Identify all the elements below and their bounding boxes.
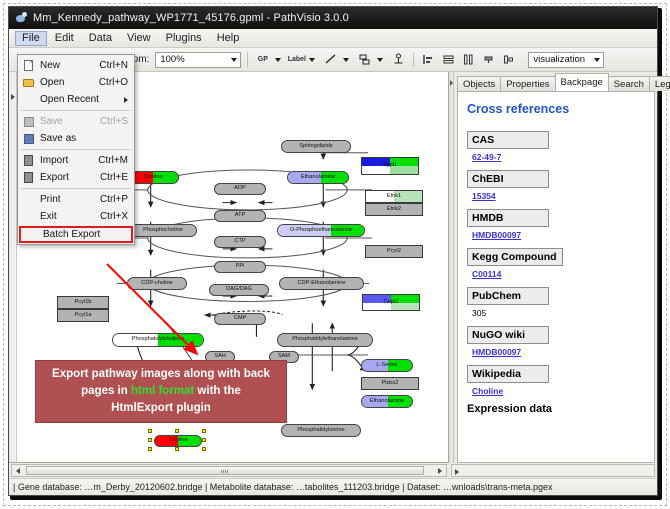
pathway-gene-pcyt2[interactable]: Pcyt2 bbox=[365, 245, 423, 258]
xref-link[interactable]: C00114 bbox=[472, 269, 501, 279]
pathway-node-label: ADP bbox=[234, 186, 246, 192]
menu-item-accel: Ctrl+P bbox=[100, 194, 134, 205]
menu-item-label: New bbox=[40, 60, 99, 71]
scroll-arrow-icon[interactable] bbox=[455, 469, 459, 475]
menu-item-open-recent[interactable]: Open Recent bbox=[18, 91, 134, 108]
align-left-button[interactable] bbox=[420, 51, 437, 68]
export-icon bbox=[20, 171, 37, 185]
tab-objects[interactable]: Objects bbox=[457, 76, 501, 91]
pathway-node-label: Choline bbox=[144, 175, 163, 181]
menu-item-label: Exit bbox=[40, 211, 100, 222]
menu-item-exit[interactable]: Exit Ctrl+X bbox=[18, 208, 134, 225]
status-bar: | Gene database: …m_Derby_20120602.bridg… bbox=[9, 478, 657, 495]
pathway-gene-etnk1[interactable]: Etnk1 bbox=[365, 190, 423, 203]
anchor-tool-button[interactable] bbox=[390, 51, 407, 68]
menu-plugins[interactable]: Plugins bbox=[159, 31, 209, 46]
menu-file[interactable]: File bbox=[15, 31, 47, 46]
xref-value[interactable]: HMDB00097 bbox=[467, 347, 654, 357]
side-panel-scroll-stub[interactable] bbox=[451, 464, 655, 477]
align-center-button[interactable] bbox=[440, 51, 457, 68]
scroll-right-arrow-icon[interactable] bbox=[438, 468, 442, 474]
tab-properties[interactable]: Properties bbox=[500, 76, 555, 91]
align-left-icon bbox=[422, 53, 435, 66]
pathway-gene-label: Sgpl1 bbox=[383, 163, 397, 169]
pathway-node-ophosphoeth[interactable]: O-Phosphoethanolamine bbox=[277, 224, 365, 237]
chevron-down-icon bbox=[594, 58, 600, 62]
xref-block-cas: CAS 62-49-7 bbox=[467, 130, 654, 162]
menu-data[interactable]: Data bbox=[82, 31, 119, 46]
menu-item-open[interactable]: Open Ctrl+O bbox=[18, 74, 134, 91]
pathway-node-ethanolamine1[interactable]: Ethanolamine bbox=[287, 171, 349, 184]
align-center-icon bbox=[442, 53, 455, 66]
menu-item-accel: Ctrl+X bbox=[100, 211, 134, 222]
pathway-node-phosphocholine[interactable]: Phosphocholine bbox=[129, 224, 197, 237]
pathway-node-label: Ethanolamine bbox=[370, 399, 404, 405]
pathway-node-l-serine[interactable]: L-Serine bbox=[361, 359, 413, 372]
xref-block-nugo: NuGO wiki HMDB00097 bbox=[467, 325, 654, 357]
open-folder-icon bbox=[20, 76, 37, 90]
anchor-icon bbox=[392, 53, 405, 66]
pathway-node-label: Phosphatidylethanolamine bbox=[292, 337, 358, 343]
pathway-gene-label: Cept1 bbox=[384, 300, 399, 306]
menu-item-print[interactable]: Print Ctrl+P bbox=[18, 191, 134, 208]
geneproduct-icon: GP bbox=[258, 56, 268, 63]
shape-dropdown-icon[interactable] bbox=[377, 58, 383, 62]
menu-item-accel: Ctrl+O bbox=[99, 77, 134, 88]
pathway-node-label: O-Phosphoethanolamine bbox=[290, 228, 352, 234]
xref-link[interactable]: HMDB00097 bbox=[472, 230, 521, 240]
horizontal-scroll-row bbox=[9, 463, 657, 478]
label-dropdown-icon[interactable] bbox=[309, 58, 315, 62]
chevron-down-icon bbox=[231, 58, 237, 62]
xref-link[interactable]: Choline bbox=[472, 386, 503, 396]
import-icon bbox=[20, 154, 37, 168]
menu-item-save: Save Ctrl+S bbox=[18, 113, 134, 130]
menu-bar: File Edit Data View Plugins Help bbox=[9, 29, 657, 48]
pathway-node-label: L-Serine bbox=[376, 363, 397, 369]
screenshot-root: Mm_Kennedy_pathway_WP1771_45176.gpml - P… bbox=[0, 0, 670, 509]
menu-item-export[interactable]: Export Ctrl+E bbox=[18, 169, 134, 186]
label-icon: Label bbox=[288, 56, 306, 63]
save-as-icon bbox=[20, 132, 37, 146]
pathway-node-label: Sphingolipids bbox=[299, 144, 332, 150]
menu-item-save-as[interactable]: Save as bbox=[18, 130, 134, 147]
scroll-left-arrow-icon[interactable] bbox=[16, 468, 20, 474]
pathway-gene-sgpl1[interactable]: Sgpl1 bbox=[361, 157, 419, 175]
group-icon bbox=[482, 53, 495, 66]
pathway-node-choline-bottom[interactable]: Choline bbox=[154, 435, 202, 447]
shape-tool-button[interactable] bbox=[356, 51, 373, 68]
xref-block-wikipedia: Wikipedia Choline bbox=[467, 364, 654, 396]
new-document-icon bbox=[20, 59, 37, 73]
annotation-callout: Export pathway images along with back pa… bbox=[35, 360, 287, 423]
label-tool-button[interactable]: Label bbox=[288, 51, 305, 68]
xref-value: 305 bbox=[467, 308, 654, 318]
callout-line-2: pages in html format with the bbox=[42, 383, 280, 400]
callout-line-1: Export pathway images along with back bbox=[42, 366, 280, 383]
xref-value[interactable]: 15354 bbox=[467, 191, 654, 201]
zoom-combo[interactable]: 100% bbox=[155, 52, 241, 68]
pathway-node-ctp[interactable]: CTP bbox=[214, 236, 266, 248]
line-icon bbox=[324, 53, 337, 66]
xref-source-label: CAS bbox=[467, 131, 549, 149]
pathway-node-label: Phosphatidylserine bbox=[297, 428, 344, 434]
no-icon bbox=[20, 193, 37, 207]
callout-line-3: HtmlExport plugin bbox=[42, 400, 280, 417]
xref-source-label: HMDB bbox=[467, 209, 549, 227]
menu-separator bbox=[21, 149, 131, 150]
align-top-button[interactable] bbox=[460, 51, 477, 68]
side-panel-tabs: Objects Properties Backpage Search Legen… bbox=[454, 72, 657, 91]
menu-item-label: Open bbox=[40, 77, 99, 88]
menu-item-label: Import bbox=[40, 155, 98, 166]
xref-source-label: ChEBI bbox=[467, 170, 549, 188]
menu-view[interactable]: View bbox=[120, 31, 158, 46]
xref-source-label: PubChem bbox=[467, 287, 549, 305]
xref-block-kegg: Kegg Compound C00114 bbox=[467, 247, 654, 279]
menu-help[interactable]: Help bbox=[210, 31, 247, 46]
geneproduct-tool-button[interactable]: GP bbox=[254, 51, 271, 68]
ungroup-button[interactable] bbox=[500, 51, 517, 68]
menu-item-label: Print bbox=[40, 194, 100, 205]
xref-value[interactable]: 62-49-7 bbox=[467, 152, 654, 162]
splitter-handle-icon[interactable] bbox=[450, 80, 453, 86]
window-title: Mm_Kennedy_pathway_WP1771_45176.gpml - P… bbox=[33, 12, 349, 24]
visualization-value: visualization bbox=[533, 54, 585, 65]
tab-search[interactable]: Search bbox=[608, 76, 650, 91]
title-bar: Mm_Kennedy_pathway_WP1771_45176.gpml - P… bbox=[9, 7, 657, 29]
zoom-value: 100% bbox=[160, 54, 184, 65]
status-text: | Gene database: …m_Derby_20120602.bridg… bbox=[13, 482, 553, 492]
pathway-gene-label: Etnk2 bbox=[387, 207, 401, 213]
xref-link[interactable]: HMDB00097 bbox=[472, 347, 521, 357]
callout-highlight: html format bbox=[131, 385, 194, 397]
pathway-node-ethanolamine2[interactable]: Ethanolamine bbox=[361, 395, 413, 408]
menu-separator bbox=[21, 110, 131, 111]
pathway-node-cdp-eth[interactable]: CDP-Ethanolamine bbox=[279, 277, 364, 290]
expression-data-heading: Expression data bbox=[467, 403, 654, 415]
ungroup-icon bbox=[502, 53, 515, 66]
pathway-node-adp[interactable]: ADP bbox=[214, 183, 266, 195]
group-button[interactable] bbox=[480, 51, 497, 68]
menu-item-label: Save bbox=[40, 116, 100, 127]
xref-link[interactable]: 15354 bbox=[472, 191, 496, 201]
no-icon bbox=[20, 93, 37, 107]
menu-item-batch-export[interactable]: Batch Export bbox=[19, 226, 133, 243]
geneproduct-dropdown-icon[interactable] bbox=[275, 58, 281, 62]
xref-block-pubchem: PubChem 305 bbox=[467, 286, 654, 318]
pathvisio-icon bbox=[15, 12, 27, 24]
line-tool-button[interactable] bbox=[322, 51, 339, 68]
pathway-node-ptdeth[interactable]: Phosphatidylethanolamine bbox=[277, 333, 373, 347]
xref-source-label: Wikipedia bbox=[467, 365, 549, 383]
pathway-gene-etnk2[interactable]: Etnk2 bbox=[365, 203, 423, 216]
save-icon bbox=[20, 115, 37, 129]
pathway-node-label: CTP bbox=[234, 239, 245, 245]
pathway-node-label: Ethanolamine bbox=[301, 175, 335, 181]
menu-item-label: Export bbox=[40, 172, 100, 183]
pathway-gene-label: Etnk1 bbox=[387, 194, 401, 200]
no-icon bbox=[20, 210, 37, 224]
menu-item-accel: Ctrl+M bbox=[98, 155, 134, 166]
pathway-node-label: Choline bbox=[169, 438, 188, 444]
submenu-arrow-icon bbox=[124, 97, 128, 103]
callout-line-2-a: pages in bbox=[81, 385, 131, 397]
expand-arrow-icon[interactable] bbox=[11, 94, 15, 100]
pathvisio-window: Mm_Kennedy_pathway_WP1771_45176.gpml - P… bbox=[8, 6, 658, 496]
menu-item-label: Batch Export bbox=[43, 229, 131, 240]
pathway-node-label: Phosphocholine bbox=[143, 228, 183, 234]
panel-splitter[interactable] bbox=[449, 72, 454, 463]
menu-item-import[interactable]: Import Ctrl+M bbox=[18, 152, 134, 169]
visualization-combo[interactable]: visualization bbox=[528, 52, 604, 68]
scroll-thumb[interactable] bbox=[26, 466, 424, 475]
xref-block-hmdb: HMDB HMDB00097 bbox=[467, 208, 654, 240]
menu-item-label: Save as bbox=[40, 133, 128, 144]
pathway-gene-label: Ptdss2 bbox=[381, 381, 398, 387]
line-dropdown-icon[interactable] bbox=[343, 58, 349, 62]
pathway-node-label: ATP bbox=[235, 213, 245, 219]
xref-source-label: Kegg Compound bbox=[467, 248, 563, 266]
backpage-content: Cross references CAS 62-49-7 ChEBI 15354… bbox=[457, 91, 655, 463]
pathway-node-ptdserine[interactable]: Phosphatidylserine bbox=[281, 424, 361, 437]
toolbar-separator bbox=[247, 52, 248, 67]
pathway-node-atp[interactable]: ATP bbox=[214, 210, 266, 222]
menu-item-new[interactable]: New Ctrl+N bbox=[18, 57, 134, 74]
pathway-node-sphingolipids[interactable]: Sphingolipids bbox=[281, 140, 351, 153]
xref-value[interactable]: Choline bbox=[467, 386, 654, 396]
xref-value[interactable]: C00114 bbox=[467, 269, 654, 279]
toolbar-separator-2 bbox=[413, 52, 414, 67]
menu-edit[interactable]: Edit bbox=[48, 31, 81, 46]
xref-block-chebi: ChEBI 15354 bbox=[467, 169, 654, 201]
file-menu-popup[interactable]: New Ctrl+N Open Ctrl+O Open Recent Save … bbox=[17, 54, 135, 245]
shape-icon bbox=[358, 53, 371, 66]
tab-legend[interactable]: Legend bbox=[649, 76, 670, 91]
menu-separator bbox=[21, 188, 131, 189]
no-icon bbox=[23, 228, 40, 242]
menu-item-accel: Ctrl+N bbox=[99, 60, 134, 71]
canvas-horizontal-scrollbar[interactable] bbox=[11, 464, 447, 477]
pathway-gene-cept1[interactable]: Cept1 bbox=[362, 294, 420, 311]
side-panel: Objects Properties Backpage Search Legen… bbox=[454, 72, 657, 463]
pathway-gene-label: Pcyt2 bbox=[387, 249, 401, 255]
menu-item-accel: Ctrl+E bbox=[100, 172, 134, 183]
align-top-icon bbox=[462, 53, 475, 66]
callout-line-2-b: with the bbox=[194, 385, 241, 397]
tab-backpage[interactable]: Backpage bbox=[555, 73, 609, 91]
menu-item-label: Open Recent bbox=[40, 94, 124, 105]
backpage-title: Cross references bbox=[467, 102, 654, 116]
xref-source-label: NuGO wiki bbox=[467, 326, 549, 344]
pathway-node-label: CDP-Ethanolamine bbox=[298, 281, 346, 287]
xref-value[interactable]: HMDB00097 bbox=[467, 230, 654, 240]
pathway-gene-ptdss2[interactable]: Ptdss2 bbox=[361, 377, 419, 390]
menu-item-accel: Ctrl+S bbox=[100, 116, 134, 127]
xref-link[interactable]: 62-49-7 bbox=[472, 152, 501, 162]
